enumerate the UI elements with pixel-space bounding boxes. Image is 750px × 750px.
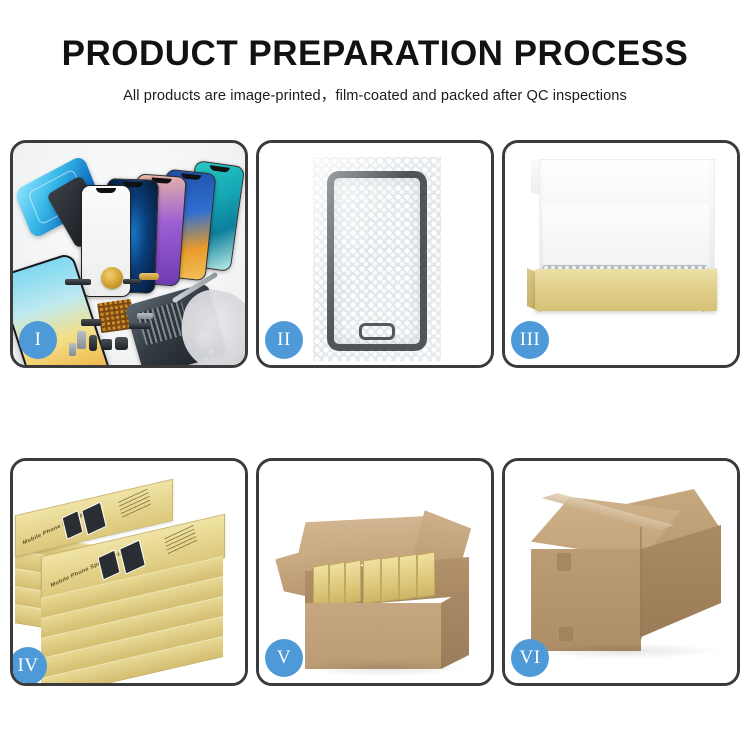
step-4-illustration: Mobile Phone Spare Parts Mobile Phone Sp…	[13, 461, 245, 683]
bracket-part-icon	[77, 331, 86, 349]
product-preparation-infographic: PRODUCT PREPARATION PROCESS All products…	[0, 0, 750, 750]
header: PRODUCT PREPARATION PROCESS All products…	[0, 0, 750, 105]
step-panel-1: I	[10, 140, 248, 368]
bubble-wrap-icon	[313, 157, 441, 361]
carton-corner-seam	[640, 527, 642, 639]
packed-box-item	[381, 556, 399, 603]
phone-image-on-label-icon	[81, 502, 107, 536]
spec-text-lines	[118, 489, 152, 521]
carton-flap-nub-icon	[559, 627, 573, 641]
step-badge-1: I	[19, 321, 57, 359]
drop-shadow	[299, 659, 469, 677]
antenna-flex-part-icon	[129, 323, 151, 329]
step-badge-2: II	[265, 321, 303, 359]
step-panel-3: III	[502, 140, 740, 368]
process-steps-grid: I II	[10, 140, 740, 686]
step-badge-4: IV	[10, 647, 47, 685]
packed-box-item	[329, 561, 345, 606]
speaker-coil-icon	[101, 267, 123, 289]
step-panel-5: V	[256, 458, 494, 686]
packed-box-item	[345, 559, 361, 604]
phone-image-on-label-icon	[119, 539, 146, 574]
carton-front-face-icon	[531, 549, 641, 651]
drop-shadow	[527, 643, 723, 659]
sim-tray-part-icon	[69, 343, 76, 356]
page-title: PRODUCT PREPARATION PROCESS	[0, 0, 750, 73]
notch-icon	[209, 165, 230, 173]
packed-box-item	[399, 554, 417, 601]
packed-box-item	[417, 552, 435, 599]
camera-module-part-icon	[101, 339, 112, 350]
spec-text-lines	[164, 525, 198, 557]
kraft-box-tray-icon	[535, 269, 717, 311]
step-badge-5: V	[265, 639, 303, 677]
flex-cable-part-icon	[65, 279, 91, 285]
button-flex-part-icon	[123, 279, 141, 284]
notch-icon	[96, 188, 116, 193]
page-subtitle: All products are image-printed，film-coat…	[0, 73, 750, 105]
speaker-part-icon	[115, 337, 128, 350]
step-badge-3: III	[511, 321, 549, 359]
home-button-icon	[359, 323, 395, 340]
vibrator-part-icon	[89, 335, 97, 351]
phone-screen-outline-icon	[327, 171, 427, 351]
step-badge-6: VI	[511, 639, 549, 677]
step-panel-4: Mobile Phone Spare Parts Mobile Phone Sp…	[10, 458, 248, 686]
step-panel-6: VI	[502, 458, 740, 686]
small-flex-part-icon	[81, 319, 101, 326]
metal-shield-part-icon	[137, 313, 153, 319]
step-panel-2: II	[256, 140, 494, 368]
packed-box-item	[313, 563, 329, 608]
carton-flap-nub-icon	[557, 553, 571, 571]
packed-box-item	[363, 558, 381, 605]
gold-connector-part-icon	[139, 273, 159, 280]
